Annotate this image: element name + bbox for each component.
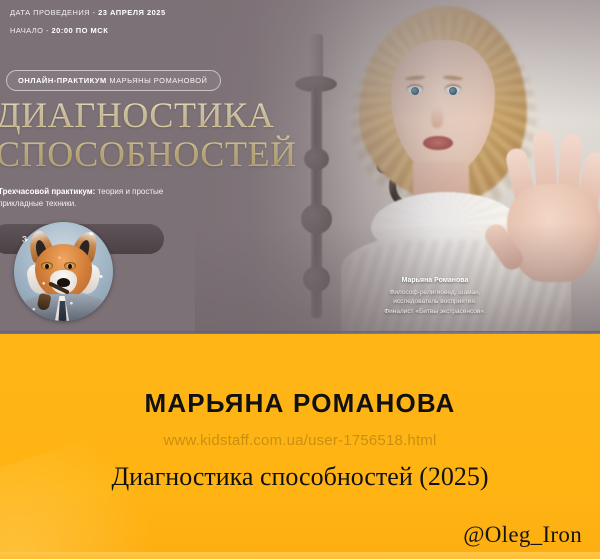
promo-meta: ДАТА ПРОВЕДЕНИЯ - 23 АПРЕЛЯ 2025 НАЧАЛО … bbox=[10, 8, 166, 44]
promo-title-line2: СПОСОБНОСТЕЙ bbox=[0, 135, 416, 174]
presenter-role-line1: Философ-религиовед, шаман, bbox=[357, 288, 513, 298]
presenter-role-line2: исследователь восприятия. bbox=[357, 297, 513, 307]
event-time-label: НАЧАЛО - bbox=[10, 26, 51, 35]
event-time-line: НАЧАЛО - 20:00 ПО МСК bbox=[10, 26, 166, 35]
format-badge: ОНЛАЙН-ПРАКТИКУМ МАРЬЯНЫ РОМАНОВОЙ bbox=[6, 70, 221, 91]
promo-listing-screenshot: ДАТА ПРОВЕДЕНИЯ - 23 АПРЕЛЯ 2025 НАЧАЛО … bbox=[0, 0, 600, 559]
listing-footer-strip bbox=[0, 552, 600, 559]
event-date-value: 23 АПРЕЛЯ 2025 bbox=[98, 8, 166, 17]
promo-subtitle: Трехчасовой практикум: теория и простые … bbox=[0, 186, 168, 211]
site-watermark: www.kidstaff.com.ua/user-1756518.html bbox=[0, 432, 600, 449]
presenter-credit: Марьяна Романова Философ-религиовед, шам… bbox=[357, 276, 513, 317]
event-time-value: 20:00 ПО МСК bbox=[51, 26, 108, 35]
listing-subtitle: Диагностика способностей (2025) bbox=[0, 462, 600, 492]
promo-title: ДИАГНОСТИКА СПОСОБНОСТЕЙ bbox=[0, 96, 416, 174]
fox-avatar-icon bbox=[14, 222, 113, 321]
seller-signature: @Oleg_Iron bbox=[463, 522, 582, 548]
presenter-name: Марьяна Романова bbox=[357, 276, 513, 287]
listing-title: МАРЬЯНА РОМАНОВА bbox=[0, 388, 600, 419]
format-badge-rest: МАРЬЯНЫ РОМАНОВОЙ bbox=[107, 76, 208, 85]
format-badge-strong: ОНЛАЙН-ПРАКТИКУМ bbox=[18, 76, 107, 85]
event-date-label: ДАТА ПРОВЕДЕНИЯ - bbox=[10, 8, 98, 17]
event-date-line: ДАТА ПРОВЕДЕНИЯ - 23 АПРЕЛЯ 2025 bbox=[10, 8, 166, 17]
promo-title-line1: ДИАГНОСТИКА bbox=[0, 95, 274, 135]
promo-subtitle-strong: Трехчасовой практикум: bbox=[0, 187, 95, 196]
promo-banner: ДАТА ПРОВЕДЕНИЯ - 23 АПРЕЛЯ 2025 НАЧАЛО … bbox=[0, 0, 600, 334]
presenter-role-line3: Финалист «Битвы экстрасенсов». bbox=[357, 307, 513, 317]
